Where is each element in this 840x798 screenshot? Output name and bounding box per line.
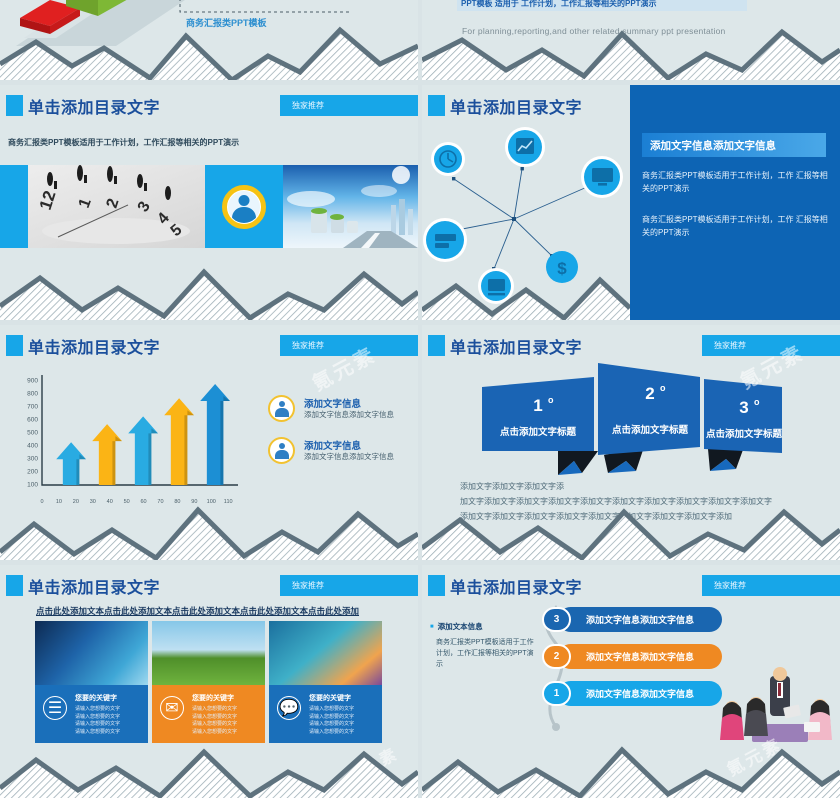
x-tick: 30: [90, 499, 96, 505]
step-label: 添加文字信息添加文字信息: [558, 607, 722, 632]
side-note-body: 商务汇报类PPT模板适用于工作计划，工作汇报等相关的PPT演示: [430, 637, 538, 671]
y-tick: 800: [8, 391, 38, 398]
mountain-pattern: [422, 738, 840, 798]
header-accent-block: [6, 335, 23, 356]
svg-text:1: 1: [76, 196, 95, 210]
card-line: 请输入您想要的文字: [309, 714, 376, 722]
card-image[interactable]: [152, 621, 265, 685]
photo-strip: 12 1 2 3 4 5: [0, 165, 418, 248]
card-keyword: 您要的关键字: [75, 693, 142, 703]
y-tick: 100: [8, 482, 38, 489]
node-monitor-icon: [581, 156, 623, 198]
x-tick: 60: [141, 499, 147, 505]
list-item[interactable]: 💬 您要的关键字 请输入您想要的文字请输入您想要的文字请输入您想要的文字请输入您…: [269, 621, 382, 743]
svg-text:3: 3: [739, 398, 748, 417]
clock-people-photo[interactable]: 12 1 2 3 4 5: [28, 165, 205, 248]
slide-photo-strip[interactable]: 单击添加目录文字 独家推荐 商务汇报类PPT模板适用于工作计划，工作汇报等相关的…: [0, 85, 418, 320]
bar-20: [56, 442, 86, 485]
x-tick: 50: [124, 499, 130, 505]
mountain-pattern: [0, 738, 418, 798]
card-line: 请输入您想要的文字: [75, 714, 142, 722]
x-tick: 110: [224, 499, 233, 505]
bar-80: [164, 398, 194, 485]
ribbons-paragraph: 添加文字添加文字添加文字添 加文字添加文字添加文字添加文字添加文字添加文字添加文…: [460, 480, 830, 524]
svg-text:点击添加文字标题: 点击添加文字标题: [500, 426, 577, 438]
step-label: 添加文字信息添加文字信息: [558, 681, 722, 706]
card-footer: ✉ 您要的关键字 请输入您想要的文字请输入您想要的文字请输入您想要的文字请输入您…: [152, 685, 265, 743]
header-accent-block: [428, 95, 445, 116]
header-accent-block: [428, 335, 445, 356]
node-dollar-icon: $: [546, 251, 578, 283]
cover-english-text: For planning,reporting,and other related…: [462, 26, 725, 36]
slide-ribbons[interactable]: 单击添加目录文字 独家推荐 1o点击添加文字标题2o点击添加文字标题3o点击添加…: [422, 325, 840, 560]
x-tick: 0: [40, 499, 43, 505]
x-tick: 90: [191, 499, 197, 505]
status-badge: 独家推荐: [702, 575, 840, 596]
card-line: 请输入您想要的文字: [309, 729, 376, 737]
step-number: 3: [542, 607, 571, 632]
header-accent-block: [6, 95, 23, 116]
svg-text:$: $: [557, 259, 567, 278]
person-icon: [268, 395, 295, 422]
svg-text:o: o: [660, 383, 666, 393]
svg-text:1: 1: [533, 396, 542, 415]
panel-paragraph-2: 商务汇报类PPT模板适用于工作计划，工作 汇报等相关的PPT演示: [642, 213, 832, 239]
avatar: [222, 185, 266, 229]
status-badge: 独家推荐: [280, 575, 418, 596]
panel-paragraph-1: 商务汇报类PPT模板适用于工作计划，工作 汇报等相关的PPT演示: [642, 169, 832, 195]
card-image[interactable]: [269, 621, 382, 685]
slide-cover-left[interactable]: 商务汇报类PPT模板: [0, 0, 418, 80]
svg-text:2: 2: [104, 196, 123, 210]
legend-sub: 添加文字信息添加文字信息: [304, 409, 394, 420]
slide-network[interactable]: 单击添加目录文字: [422, 85, 840, 320]
mail-icon[interactable]: ✉: [160, 696, 184, 720]
list-icon[interactable]: ☰: [43, 696, 67, 720]
card-line: 请输入您想要的文字: [75, 729, 142, 737]
page-title: 单击添加目录文字: [28, 334, 160, 358]
step-item[interactable]: 添加文字信息添加文字信息 3: [542, 607, 722, 632]
card-footer: 💬 您要的关键字 请输入您想要的文字请输入您想要的文字请输入您想要的文字请输入您…: [269, 685, 382, 743]
step-number: 2: [542, 644, 571, 669]
x-tick: 70: [157, 499, 163, 505]
card-line: 请输入您想要的文字: [192, 706, 259, 714]
status-badge: 独家推荐: [280, 335, 418, 356]
svg-text:o: o: [754, 397, 760, 407]
page-title: 单击添加目录文字: [450, 94, 582, 118]
bar-40: [92, 424, 122, 485]
y-tick: 400: [8, 443, 38, 450]
page-title: 单击添加目录文字: [28, 574, 160, 598]
y-tick: 200: [8, 469, 38, 476]
lead-text: 点击此处添加文本点击此处添加文本点击此处添加文本点击此处添加文本点击此处添加: [36, 605, 359, 617]
card-line: 请输入您想要的文字: [192, 721, 259, 729]
card-line: 请输入您想要的文字: [75, 721, 142, 729]
card-keyword: 您要的关键字: [309, 693, 376, 703]
list-item[interactable]: ☰ 您要的关键字 请输入您想要的文字请输入您想要的文字请输入您想要的文字请输入您…: [35, 621, 148, 743]
x-axis-ticks: 0102030405060708090100110: [8, 497, 258, 509]
slide-header: 单击添加目录文字 独家推荐: [0, 94, 418, 118]
header-accent-block: [6, 575, 23, 596]
mountain-pattern: [0, 260, 418, 320]
slide-header: 单击添加目录文字 独家推荐: [0, 334, 418, 358]
slide-body-text: 商务汇报类PPT模板适用于工作计划，工作汇报等相关的PPT演示: [8, 137, 239, 148]
svg-text:12: 12: [36, 188, 60, 212]
slide-steps[interactable]: 单击添加目录文字 独家推荐 添加文本信息 商务汇报类PPT模板适用于工作计划，工…: [422, 565, 840, 798]
status-badge: 独家推荐: [280, 95, 418, 116]
cyan-block: [0, 165, 28, 248]
x-tick: 100: [207, 499, 216, 505]
x-tick: 10: [56, 499, 62, 505]
card-line: 请输入您想要的文字: [192, 729, 259, 737]
person-icon: [268, 437, 295, 464]
slide-header: 单击添加目录文字 独家推荐: [422, 574, 840, 598]
card-line: 请输入您想要的文字: [309, 721, 376, 729]
card-list: ☰ 您要的关键字 请输入您想要的文字请输入您想要的文字请输入您想要的文字请输入您…: [35, 621, 383, 743]
step-item[interactable]: 添加文字信息添加文字信息 2: [542, 644, 722, 669]
network-diagram: $: [422, 121, 630, 311]
panel-heading: 添加文字信息添加文字信息: [642, 133, 826, 157]
step-list: 添加文字信息添加文字信息 3添加文字信息添加文字信息 2添加文字信息添加文字信息…: [542, 607, 722, 718]
bar-100: [200, 384, 230, 485]
svg-text:3: 3: [135, 199, 154, 215]
page-title: 单击添加目录文字: [450, 574, 582, 598]
card-lines: 请输入您想要的文字请输入您想要的文字请输入您想要的文字请输入您想要的文字: [192, 706, 259, 736]
svg-text:点击添加文字标题: 点击添加文字标题: [612, 424, 689, 436]
svg-text:o: o: [548, 395, 554, 405]
avatar-badge[interactable]: [205, 165, 283, 248]
step-label: 添加文字信息添加文字信息: [558, 644, 722, 669]
paragraph-line: 添加文字添加文字添加文字添加文字添加文字添加文字添加文字添加文字添加: [460, 510, 830, 525]
business-meeting-people: [708, 666, 838, 746]
slide-three-cards[interactable]: 单击添加目录文字 独家推荐 点击此处添加文本点击此处添加文本点击此处添加文本点击…: [0, 565, 418, 798]
dashed-callout: [170, 0, 418, 16]
arrow-bar-chart: 100200300400500600700800900 010203040506…: [8, 367, 258, 512]
ribbon-1[interactable]: 1o点击添加文字标题: [482, 377, 598, 475]
info-panel: 添加文字信息添加文字信息 商务汇报类PPT模板适用于工作计划，工作 汇报等相关的…: [630, 85, 840, 320]
slide-cover-right[interactable]: 商务汇报类PPT模板类 适用于 工作计划 工作汇报等相关的PPT演示 商务汇报类…: [422, 0, 840, 80]
x-tick: 20: [73, 499, 79, 505]
svg-text:2: 2: [645, 384, 654, 403]
status-badge: 独家推荐: [702, 335, 840, 356]
card-line: 请输入您想要的文字: [309, 706, 376, 714]
card-footer: ☰ 您要的关键字 请输入您想要的文字请输入您想要的文字请输入您想要的文字请输入您…: [35, 685, 148, 743]
svg-text:点击添加文字标题: 点击添加文字标题: [706, 428, 783, 440]
ribbon-2[interactable]: 2o点击添加文字标题: [598, 363, 700, 473]
node-chart-icon: [505, 127, 545, 167]
slide-preview-grid: 商务汇报类PPT模板 商务汇报类PPT模板类 适用于 工作计划 工作汇报等相关的…: [0, 0, 840, 788]
paragraph-line: 加文字添加文字添加文字添加文字添加文字添加文字添加文字添加文字添加文字添加文字: [460, 495, 830, 510]
node-document-icon: [478, 268, 514, 304]
ribbon-3[interactable]: 3o点击添加文字标题: [704, 379, 782, 471]
watermark: 氪元素: [341, 740, 403, 788]
card-lines: 请输入您想要的文字请输入您想要的文字请输入您想要的文字请输入您想要的文字: [75, 706, 142, 736]
card-line: 请输入您想要的文字: [192, 714, 259, 722]
y-tick: 500: [8, 430, 38, 437]
bar-60: [128, 416, 158, 485]
y-tick: 600: [8, 417, 38, 424]
x-tick: 40: [107, 499, 113, 505]
node-card-icon: [423, 218, 467, 262]
node-clock-icon: [431, 142, 465, 176]
card-image[interactable]: [35, 621, 148, 685]
side-note: 添加文本信息 商务汇报类PPT模板适用于工作计划，工作汇报等相关的PPT演示: [430, 621, 538, 671]
step-item[interactable]: 添加文字信息添加文字信息 1: [542, 681, 722, 706]
chat-icon[interactable]: 💬: [277, 696, 301, 720]
list-item[interactable]: ✉ 您要的关键字 请输入您想要的文字请输入您想要的文字请输入您想要的文字请输入您…: [152, 621, 265, 743]
card-keyword: 您要的关键字: [192, 693, 259, 703]
paragraph-line: 添加文字添加文字添加文字添: [460, 480, 830, 495]
slide-header: 单击添加目录文字 独家推荐: [0, 574, 418, 598]
page-title: 单击添加目录文字: [28, 94, 160, 118]
ribbon-banner-group: 1o点击添加文字标题2o点击添加文字标题3o点击添加文字标题: [422, 355, 840, 475]
cover-label: 商务汇报类PPT模板: [186, 16, 267, 29]
cover-blue-text: 商务汇报类PPT模板类 适用于 工作计划 工作汇报等相关的PPT演示 商务汇报类…: [457, 0, 747, 11]
card-lines: 请输入您想要的文字请输入您想要的文字请输入您想要的文字请输入您想要的文字: [309, 706, 376, 736]
step-number: 1: [542, 681, 571, 706]
legend-sub: 添加文字信息添加文字信息: [304, 451, 394, 462]
card-line: 请输入您想要的文字: [75, 706, 142, 714]
y-tick: 300: [8, 456, 38, 463]
x-tick: 80: [174, 499, 180, 505]
legend-heading: 添加文字信息: [304, 438, 361, 452]
side-note-title: 添加文本信息: [430, 621, 538, 632]
city-road-photo[interactable]: [283, 165, 418, 248]
header-accent-block: [428, 575, 445, 596]
slide-bar-chart[interactable]: 单击添加目录文字 独家推荐 10020030040050060070080090…: [0, 325, 418, 560]
y-tick: 700: [8, 404, 38, 411]
legend-heading: 添加文字信息: [304, 396, 361, 410]
y-tick: 900: [8, 378, 38, 385]
